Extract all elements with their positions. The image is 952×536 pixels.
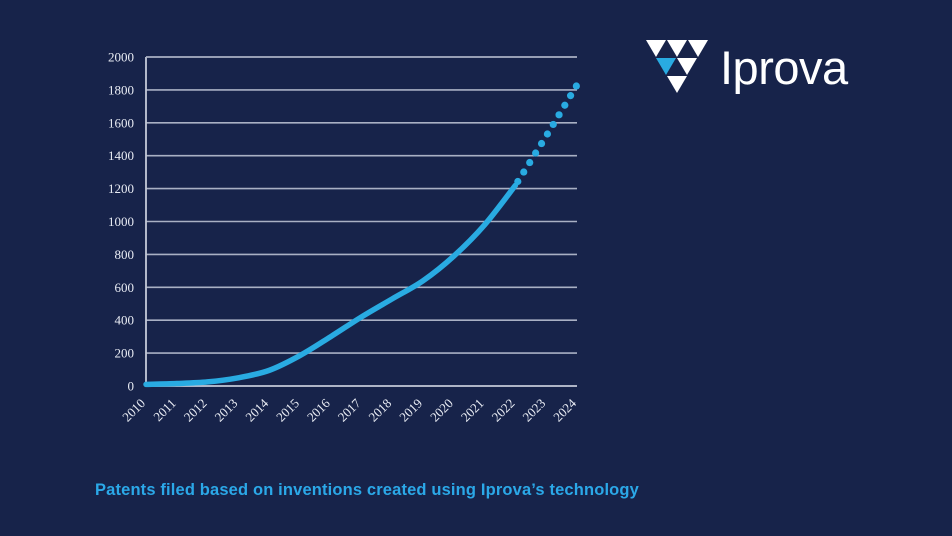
ytick-label: 1200 [108,181,134,196]
ytick-label: 400 [115,313,135,328]
ytick-label: 1800 [108,82,134,97]
xtick-label: 2012 [181,396,210,425]
projection-dot [567,92,574,99]
patents-line-chart: 0200400600800100012001400160018002000 20… [0,0,640,460]
projection-dot [514,178,521,185]
projection-dot [538,140,545,147]
triangle-icon-mid-left-accent [656,58,676,75]
series-group [146,82,580,384]
xtick-label: 2010 [119,396,148,425]
slide-canvas: Iprova 020040060080010001200140016001800… [0,0,952,536]
xtick-label: 2018 [365,396,394,425]
triangle-icon-bottom [667,76,687,93]
projection-dot [555,111,562,118]
ytick-label: 200 [115,346,135,361]
ytick-label: 1000 [108,214,134,229]
triangle-icon-top-center [667,40,687,57]
ytick-label: 600 [115,280,135,295]
projection-dot [526,159,533,166]
ytick-label: 800 [115,247,135,262]
projection-dot [520,168,527,175]
xtick-label: 2019 [396,396,425,425]
triangle-icon-top-left [646,40,666,57]
xtick-label: 2016 [304,395,333,424]
xtick-label: 2014 [242,395,271,424]
projection-dot [532,149,539,156]
triangle-icon-mid-right [677,58,697,75]
gridlines-group [146,57,577,353]
xtick-label: 2021 [458,396,487,425]
ytick-label: 1600 [108,115,134,130]
iprova-logo: Iprova [646,40,848,94]
iprova-triangles-logo-icon [646,40,704,94]
series-line-0 [146,185,515,384]
xtick-label: 2020 [427,396,456,425]
projection-dot [561,102,568,109]
xtick-label: 2022 [489,396,518,425]
xtick-labels-group: 2010201120122013201420152016201720182019… [119,395,579,424]
projection-dot [544,130,551,137]
xtick-label: 2013 [211,396,240,425]
chart-svg: 0200400600800100012001400160018002000 20… [0,0,640,460]
xtick-label: 2017 [335,395,364,424]
ytick-label: 0 [128,379,135,394]
triangle-icon-top-right [688,40,708,57]
ytick-label: 1400 [108,148,134,163]
xtick-label: 2011 [150,396,179,425]
projection-dot [573,82,580,89]
ytick-label: 2000 [108,50,134,65]
xtick-label: 2023 [519,396,548,425]
chart-caption: Patents filed based on inventions create… [95,481,639,500]
ytick-labels-group: 0200400600800100012001400160018002000 [108,50,134,394]
xtick-label: 2015 [273,396,302,425]
brand-name: Iprova [720,44,848,91]
xtick-label: 2024 [550,395,579,424]
projection-dot [550,121,557,128]
